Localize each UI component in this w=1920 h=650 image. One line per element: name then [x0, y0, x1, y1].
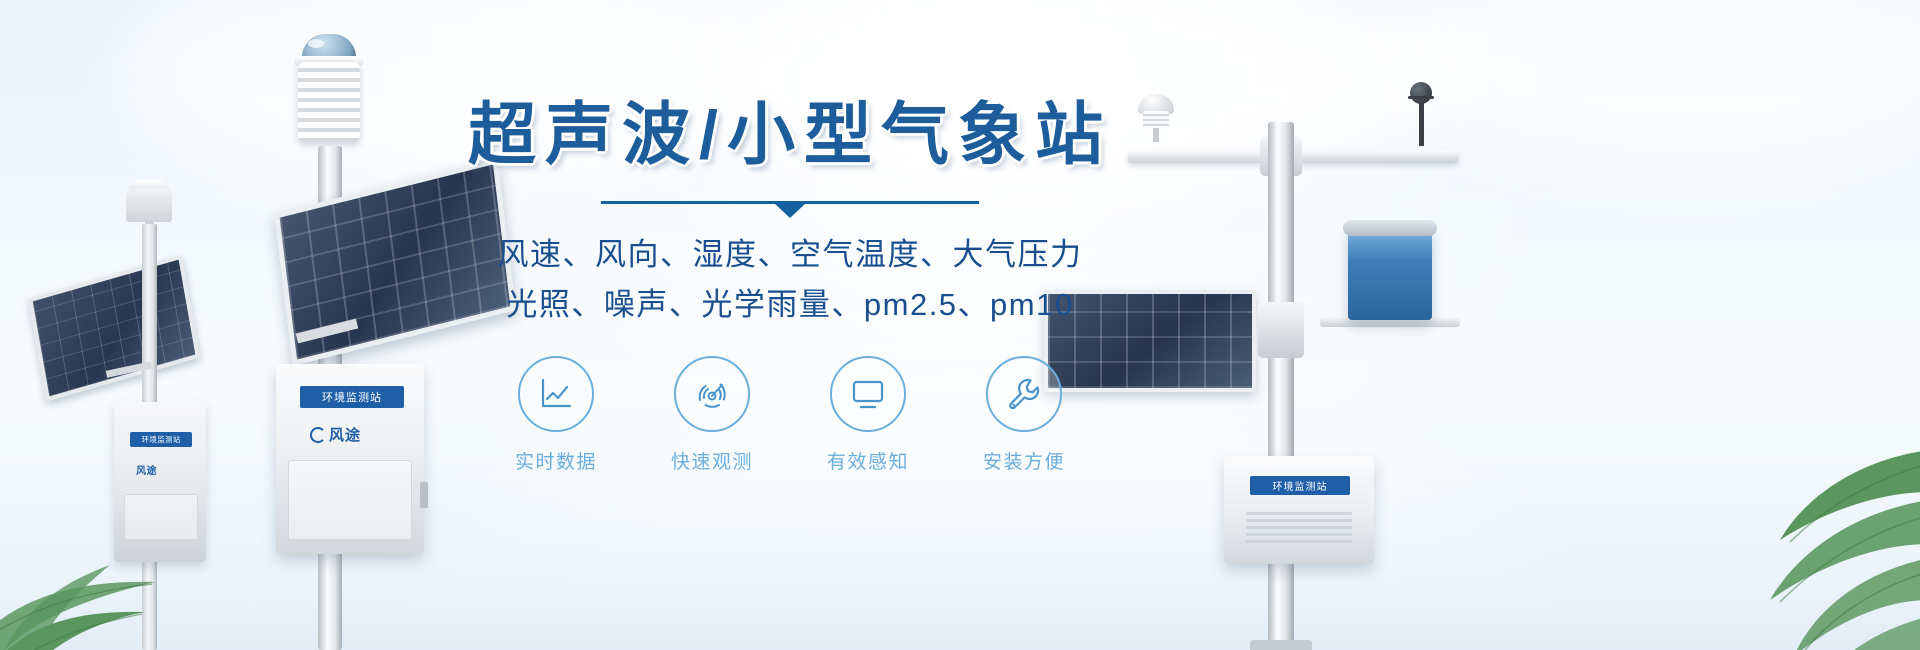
- subtitle-line-2: 光照、噪声、光学雨量、pm2.5、pm10: [440, 280, 1140, 330]
- palm-leaf-right: [1630, 380, 1920, 650]
- cabinet-nameplate: 环境监测站: [300, 386, 404, 408]
- product-banner: 环境监测站 风途 环境监测站 风途: [0, 0, 1920, 650]
- monitor-screen-icon: [847, 373, 889, 415]
- feature-easy-installation[interactable]: 安装方便: [974, 356, 1074, 474]
- feature-icon-circle: [674, 356, 750, 432]
- feature-icon-circle: [830, 356, 906, 432]
- radar-scan-icon: [692, 374, 732, 414]
- ultrasonic-sensor-body: [1143, 111, 1169, 129]
- cabinet-nameplate: 环境监测站: [130, 432, 192, 447]
- lightning-rod-shaft: [1419, 102, 1424, 146]
- divider-triangle-icon: [774, 203, 806, 218]
- radiation-shield: [298, 62, 360, 142]
- wrench-icon: [1003, 373, 1045, 415]
- page-title: 超声波/小型气象站: [440, 96, 1140, 175]
- cabinet-vent: [1246, 512, 1352, 546]
- feature-label: 实时数据: [506, 447, 606, 474]
- subtitle-block: 风速、风向、湿度、空气温度、大气压力 光照、噪声、光学雨量、pm2.5、pm10: [440, 230, 1140, 330]
- cabinet-brand-text: 风途: [329, 424, 361, 445]
- feature-realtime-data[interactable]: 实时数据: [506, 356, 606, 474]
- mast-pole: [1268, 122, 1294, 650]
- subtitle-line-1: 风速、风向、湿度、空气温度、大气压力: [440, 230, 1140, 280]
- lightning-rod-spike: [1408, 96, 1434, 99]
- solar-panel: [28, 254, 200, 401]
- feature-icon-circle: [986, 356, 1062, 432]
- banner-content: 超声波/小型气象站 风速、风向、湿度、空气温度、大气压力 光照、噪声、光学雨量、…: [440, 96, 1140, 474]
- mast-base: [1250, 640, 1312, 650]
- rain-gauge: [1348, 228, 1432, 320]
- lightning-rod-ball: [1410, 82, 1432, 104]
- radiation-shield-sensor: [126, 188, 172, 222]
- cabinet-hinge: [420, 482, 428, 508]
- feature-effective-sensing[interactable]: 有效感知: [818, 356, 918, 474]
- feature-fast-observation[interactable]: 快速观测: [662, 356, 762, 474]
- control-cabinet: 环境监测站 风途: [276, 364, 424, 554]
- feature-label: 快速观测: [662, 447, 762, 474]
- feature-list: 实时数据 快: [440, 356, 1140, 474]
- feature-icon-circle: [518, 356, 594, 432]
- cabinet-nameplate-text: 环境监测站: [1273, 478, 1328, 493]
- feature-label: 安装方便: [974, 447, 1074, 474]
- cabinet-nameplate-text: 环境监测站: [141, 434, 180, 444]
- ultrasonic-wind-sensor: [1138, 94, 1174, 140]
- cabinet-nameplate-text: 环境监测站: [322, 389, 382, 405]
- title-divider: [601, 201, 979, 204]
- feature-label: 有效感知: [818, 447, 918, 474]
- brand-mark-icon: [310, 427, 326, 443]
- weather-station-right: 环境监测站: [1120, 40, 1480, 650]
- mast-collar-lower: [1258, 302, 1304, 358]
- ultrasonic-sensor-stem: [1153, 128, 1159, 142]
- cabinet-door-panel: [288, 460, 412, 540]
- cabinet-nameplate: 环境监测站: [1250, 476, 1350, 495]
- palm-leaf-left: [0, 460, 220, 650]
- line-chart-icon: [536, 374, 576, 414]
- lightning-rod: [1406, 82, 1436, 144]
- control-cabinet: 环境监测站: [1224, 456, 1374, 564]
- cabinet-brand-logo: 风途: [310, 424, 361, 445]
